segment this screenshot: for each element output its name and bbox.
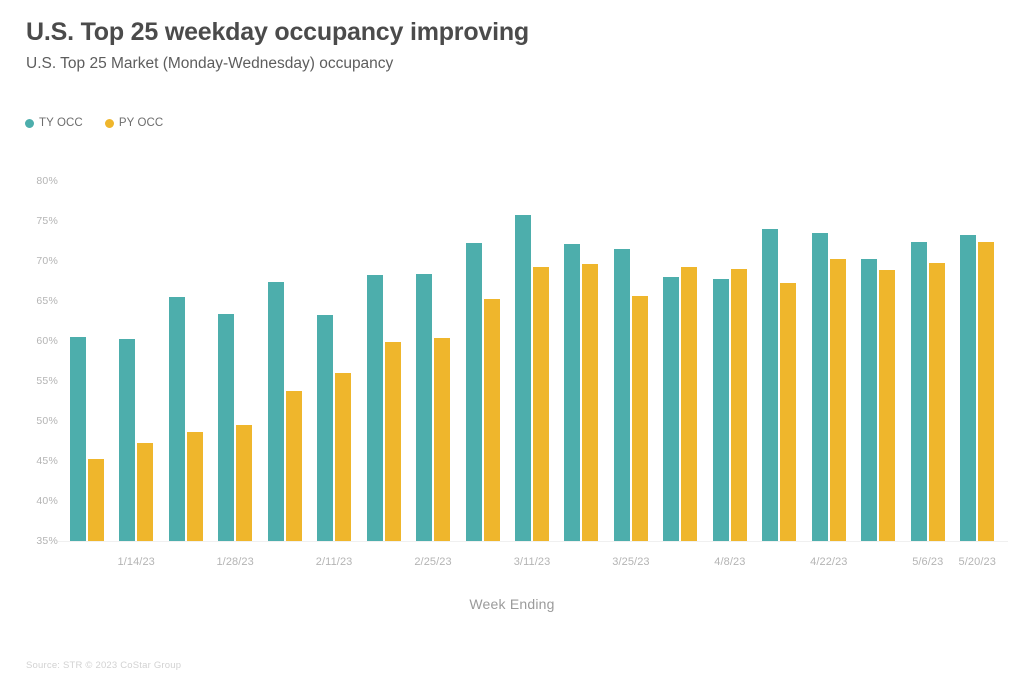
y-axis: 35%40%45%50%55%60%65%70%75%80% xyxy=(22,0,58,688)
bar-group[interactable] xyxy=(260,181,309,541)
x-axis-tick-label: 1/28/23 xyxy=(216,556,253,568)
y-axis-tick-label: 75% xyxy=(36,215,58,227)
chart-page: U.S. Top 25 weekday occupancy improving … xyxy=(0,0,1024,688)
bar-group[interactable] xyxy=(606,181,655,541)
bar-group[interactable] xyxy=(62,181,111,541)
y-axis-tick-label: 35% xyxy=(36,535,58,547)
bar-py-occ[interactable] xyxy=(582,264,598,541)
bar-group[interactable] xyxy=(755,181,804,541)
bar-ty-occ[interactable] xyxy=(268,282,284,541)
bar-py-occ[interactable] xyxy=(632,296,648,541)
y-axis-tick-label: 50% xyxy=(36,415,58,427)
x-axis-line xyxy=(58,541,1008,542)
bar-py-occ[interactable] xyxy=(830,259,846,541)
bar-group[interactable] xyxy=(309,181,358,541)
x-axis-title: Week Ending xyxy=(0,596,1024,612)
x-axis-tick-label: 5/20/23 xyxy=(959,556,996,568)
bar-ty-occ[interactable] xyxy=(663,277,679,541)
x-axis-tick-label: 5/6/23 xyxy=(912,556,943,568)
bar-py-occ[interactable] xyxy=(434,338,450,541)
bar-py-occ[interactable] xyxy=(780,283,796,541)
bar-py-occ[interactable] xyxy=(484,299,500,541)
bar-group[interactable] xyxy=(705,181,754,541)
bar-group[interactable] xyxy=(656,181,705,541)
y-axis-tick-label: 80% xyxy=(36,175,58,187)
plot-area: 35%40%45%50%55%60%65%70%75%80% 1/14/231/… xyxy=(0,0,1024,688)
source-footer: Source: STR © 2023 CoStar Group xyxy=(26,660,181,671)
bar-py-occ[interactable] xyxy=(533,267,549,541)
bar-py-occ[interactable] xyxy=(236,425,252,541)
bar-ty-occ[interactable] xyxy=(367,275,383,541)
bar-py-occ[interactable] xyxy=(731,269,747,541)
y-axis-tick-label: 55% xyxy=(36,375,58,387)
y-axis-tick-label: 65% xyxy=(36,295,58,307)
bar-py-occ[interactable] xyxy=(88,459,104,541)
bar-ty-occ[interactable] xyxy=(713,279,729,541)
bar-py-occ[interactable] xyxy=(929,263,945,541)
x-axis-tick-label: 2/25/23 xyxy=(414,556,451,568)
bar-ty-occ[interactable] xyxy=(218,314,234,541)
bar-ty-occ[interactable] xyxy=(911,242,927,541)
x-axis-tick-label: 2/11/23 xyxy=(316,556,353,568)
bars-container xyxy=(62,181,1002,541)
bar-ty-occ[interactable] xyxy=(466,243,482,541)
bar-group[interactable] xyxy=(458,181,507,541)
bar-ty-occ[interactable] xyxy=(861,259,877,541)
bar-group[interactable] xyxy=(111,181,160,541)
bar-py-occ[interactable] xyxy=(335,373,351,541)
bar-group[interactable] xyxy=(359,181,408,541)
bar-ty-occ[interactable] xyxy=(812,233,828,541)
bar-py-occ[interactable] xyxy=(137,443,153,541)
bar-group[interactable] xyxy=(557,181,606,541)
bar-group[interactable] xyxy=(854,181,903,541)
bar-ty-occ[interactable] xyxy=(317,315,333,541)
bar-group[interactable] xyxy=(804,181,853,541)
bar-ty-occ[interactable] xyxy=(416,274,432,541)
x-axis-tick-label: 3/25/23 xyxy=(612,556,649,568)
bar-py-occ[interactable] xyxy=(385,342,401,541)
bar-ty-occ[interactable] xyxy=(169,297,185,541)
bar-group[interactable] xyxy=(408,181,457,541)
bar-group[interactable] xyxy=(953,181,1002,541)
bar-ty-occ[interactable] xyxy=(119,339,135,541)
y-axis-tick-label: 70% xyxy=(36,255,58,267)
x-axis-ticks: 1/14/231/28/232/11/232/25/233/11/233/25/… xyxy=(62,556,1002,576)
y-axis-tick-label: 60% xyxy=(36,335,58,347)
y-axis-tick-label: 40% xyxy=(36,495,58,507)
bar-ty-occ[interactable] xyxy=(564,244,580,541)
x-axis-tick-label: 4/8/23 xyxy=(714,556,745,568)
bar-py-occ[interactable] xyxy=(187,432,203,541)
bar-group[interactable] xyxy=(161,181,210,541)
bar-py-occ[interactable] xyxy=(286,391,302,541)
bar-group[interactable] xyxy=(903,181,952,541)
x-axis-tick-label: 3/11/23 xyxy=(514,556,551,568)
bar-py-occ[interactable] xyxy=(978,242,994,541)
y-axis-tick-label: 45% xyxy=(36,455,58,467)
x-axis-tick-label: 1/14/23 xyxy=(118,556,155,568)
bar-ty-occ[interactable] xyxy=(515,215,531,541)
bar-ty-occ[interactable] xyxy=(70,337,86,541)
bar-group[interactable] xyxy=(507,181,556,541)
bar-ty-occ[interactable] xyxy=(614,249,630,541)
bar-ty-occ[interactable] xyxy=(762,229,778,541)
bar-py-occ[interactable] xyxy=(681,267,697,541)
bar-ty-occ[interactable] xyxy=(960,235,976,541)
x-axis-tick-label: 4/22/23 xyxy=(810,556,847,568)
bar-group[interactable] xyxy=(210,181,259,541)
bar-py-occ[interactable] xyxy=(879,270,895,541)
